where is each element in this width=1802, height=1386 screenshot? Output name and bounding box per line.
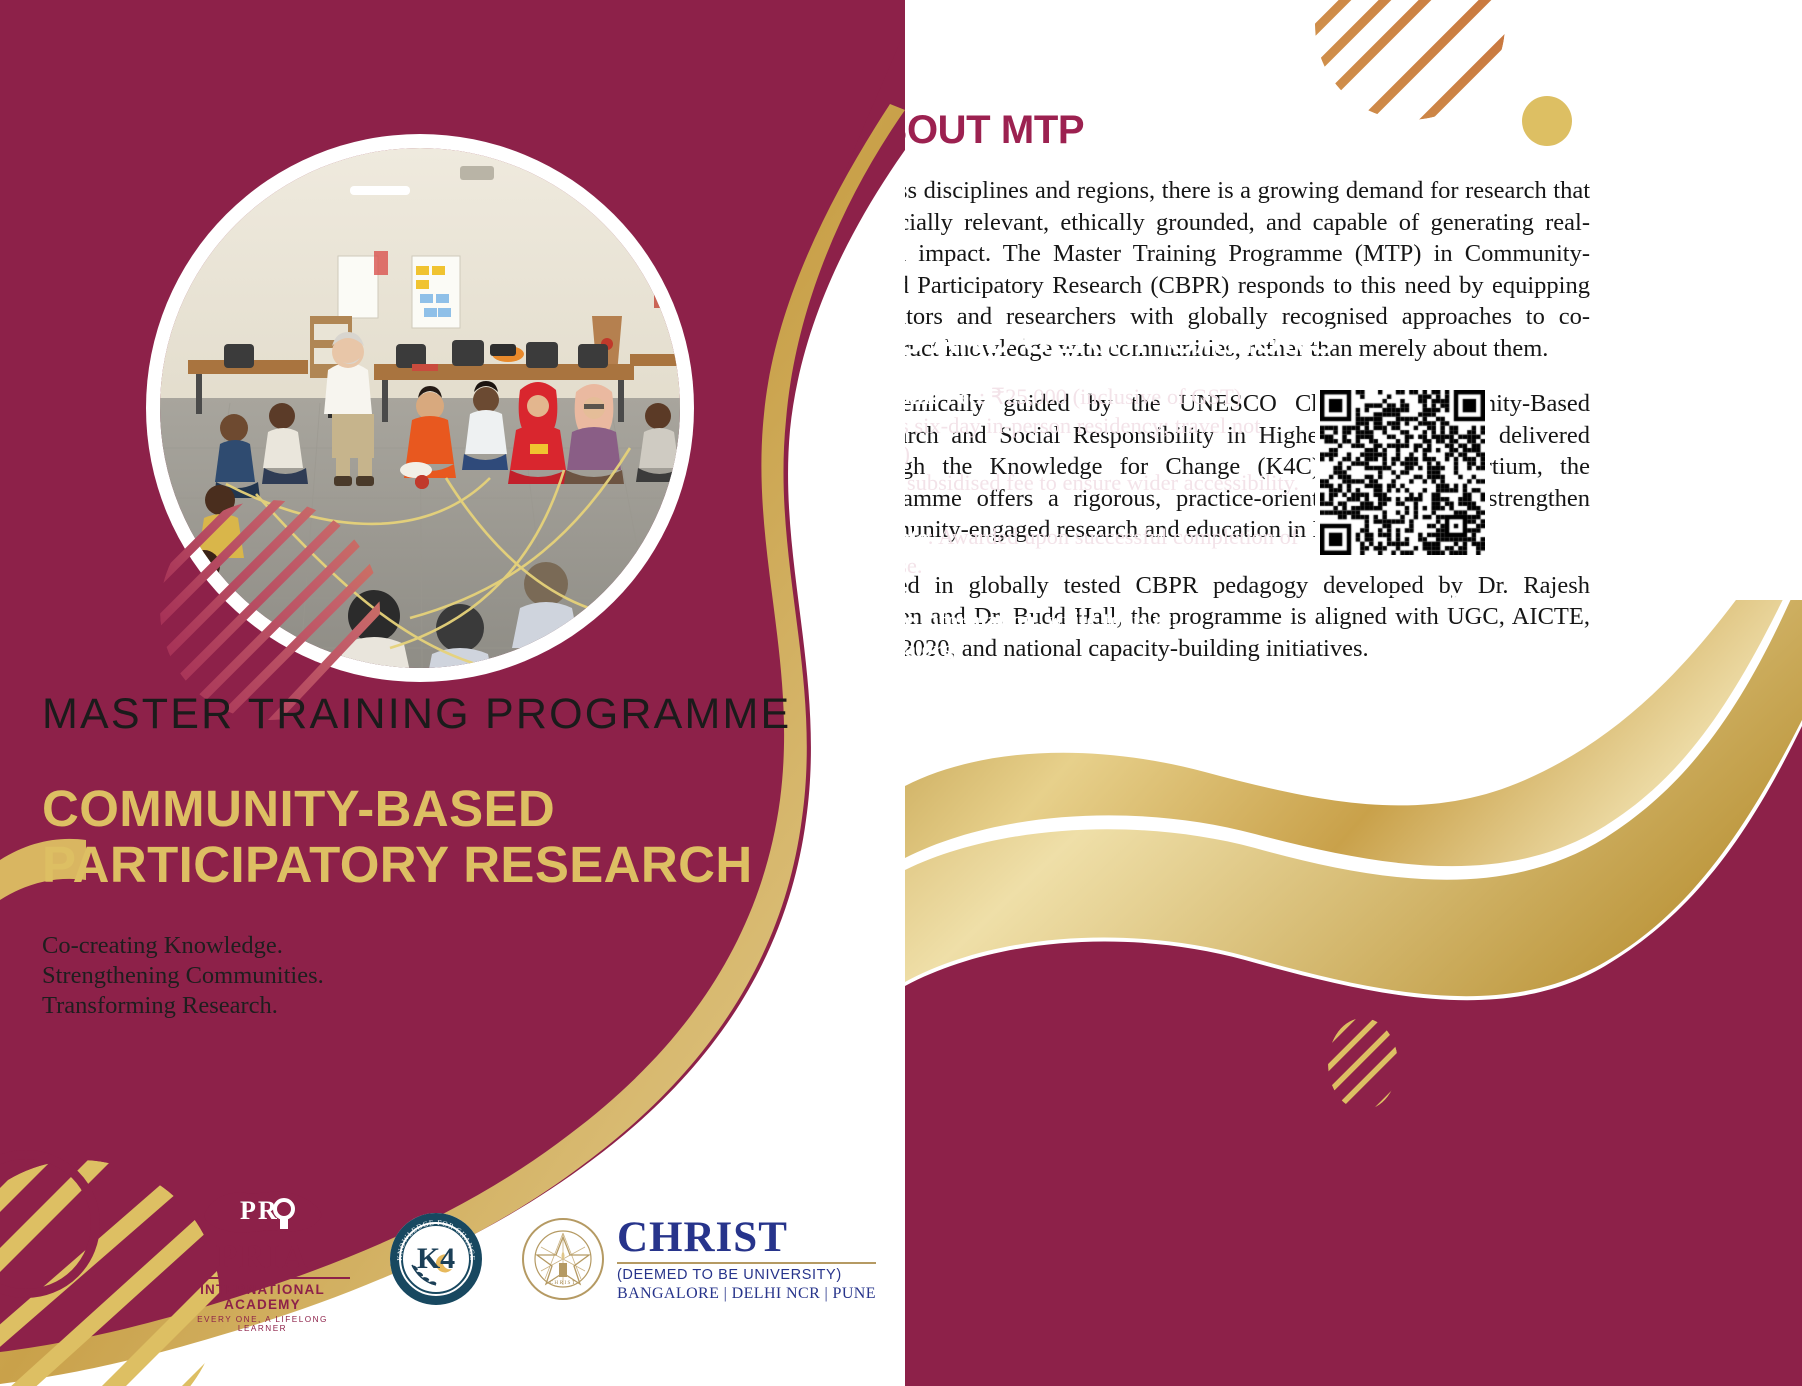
striped-circle-decor-topright bbox=[1315, 0, 1505, 120]
christ-logo: CHRIST CHRIST (DEEMED TO BE UNIVERSITY) … bbox=[522, 1216, 876, 1303]
contact-paragraph: For more information, write to us at: pi… bbox=[905, 606, 1325, 663]
christ-deemed: (DEEMED TO BE UNIVERSITY) bbox=[617, 1268, 876, 1283]
christ-name: CHRIST bbox=[617, 1216, 876, 1259]
fee-paragraph: Programme Fee: ₹25,000 (inclusive of GST… bbox=[905, 383, 1325, 497]
striped-circle-decor-left bbox=[160, 500, 380, 720]
register-now-label: REGISTER NOW bbox=[1321, 590, 1491, 613]
tagline-line-3: Transforming Research. bbox=[42, 991, 802, 1021]
programme-title-line1: COMMUNITY-BASED bbox=[42, 781, 802, 837]
striped-ellipse-decor-fees bbox=[1328, 1018, 1398, 1110]
certificate-value: : Awarded upon successful completion of … bbox=[905, 524, 1298, 578]
fee-note-1: (Includes six-day in-person residency; t… bbox=[905, 413, 1261, 467]
about-heading: ABOUT MTP bbox=[905, 108, 1084, 153]
contact-label: For more information, write to us at: bbox=[905, 607, 1180, 632]
pria-tagline: EVERY ONE, A LIFELONG LEARNER bbox=[175, 1315, 350, 1333]
svg-text:CHRIST: CHRIST bbox=[550, 1280, 577, 1286]
pria-divider bbox=[175, 1277, 350, 1279]
fees-body: Programme Fee: ₹25,000 (inclusive of GST… bbox=[905, 383, 1325, 689]
partner-logos: P R PRIA INTERNATIONAL ACADEMY EVERY ONE… bbox=[175, 1185, 876, 1333]
brochure-page: MASTER TRAINING PROGRAMME COMMUNITY-BASE… bbox=[0, 0, 1802, 1386]
pria-brush-mark-icon: P R bbox=[198, 1185, 328, 1237]
pria-sub: INTERNATIONAL ACADEMY bbox=[175, 1282, 350, 1312]
fees-heading: FEES AND CERTIFICATIONS bbox=[905, 320, 1334, 363]
right-panel: ABOUT MTP Across disciplines and regions… bbox=[905, 0, 1802, 1386]
christ-divider bbox=[617, 1262, 876, 1264]
qr-code[interactable] bbox=[1315, 385, 1490, 560]
programme-title: COMMUNITY-BASED PARTICIPATORY RESEARCH bbox=[42, 781, 802, 893]
fees-section: FEES AND CERTIFICATIONS Programme Fee: ₹… bbox=[905, 148, 1802, 748]
gold-dot-topright bbox=[1522, 96, 1572, 146]
k4c-logo: KNOWLEDGE FOR CHANGE GLOBAL CONSORTIUM K… bbox=[390, 1213, 482, 1305]
fee-label: Programme Fee bbox=[905, 384, 979, 409]
tagline: Co-creating Knowledge. Strengthening Com… bbox=[42, 931, 802, 1021]
fee-note-2: This is a subsidised fee to ensure wider… bbox=[905, 470, 1299, 495]
christ-wordmark: CHRIST (DEEMED TO BE UNIVERSITY) BANGALO… bbox=[617, 1216, 876, 1303]
fee-value: : ₹25,000 (inclusive of GST) bbox=[979, 384, 1241, 409]
programme-title-line2: PARTICIPATORY RESEARCH bbox=[42, 837, 802, 893]
programme-kicker: MASTER TRAINING PROGRAMME bbox=[42, 690, 802, 739]
christ-seal-icon: CHRIST bbox=[522, 1218, 604, 1300]
tagline-line-1: Co-creating Knowledge. bbox=[42, 931, 802, 961]
left-panel: MASTER TRAINING PROGRAMME COMMUNITY-BASE… bbox=[0, 0, 905, 1386]
left-title-block: MASTER TRAINING PROGRAMME COMMUNITY-BASE… bbox=[42, 690, 802, 1021]
contact-email[interactable]: pia@pria.org bbox=[905, 636, 954, 661]
svg-text:P: P bbox=[240, 1196, 256, 1225]
certificate-paragraph: Certificate: Awarded upon successful com… bbox=[905, 523, 1325, 580]
christ-cities: BANGALORE | DELHI NCR | PUNE bbox=[617, 1286, 876, 1302]
k4c-center-text: K4 bbox=[390, 1213, 482, 1305]
pria-name: PRIA bbox=[175, 1239, 350, 1275]
tagline-line-2: Strengthening Communities. bbox=[42, 961, 802, 991]
certificate-label: Certificate bbox=[905, 524, 927, 549]
pria-logo: P R PRIA INTERNATIONAL ACADEMY EVERY ONE… bbox=[175, 1185, 350, 1333]
